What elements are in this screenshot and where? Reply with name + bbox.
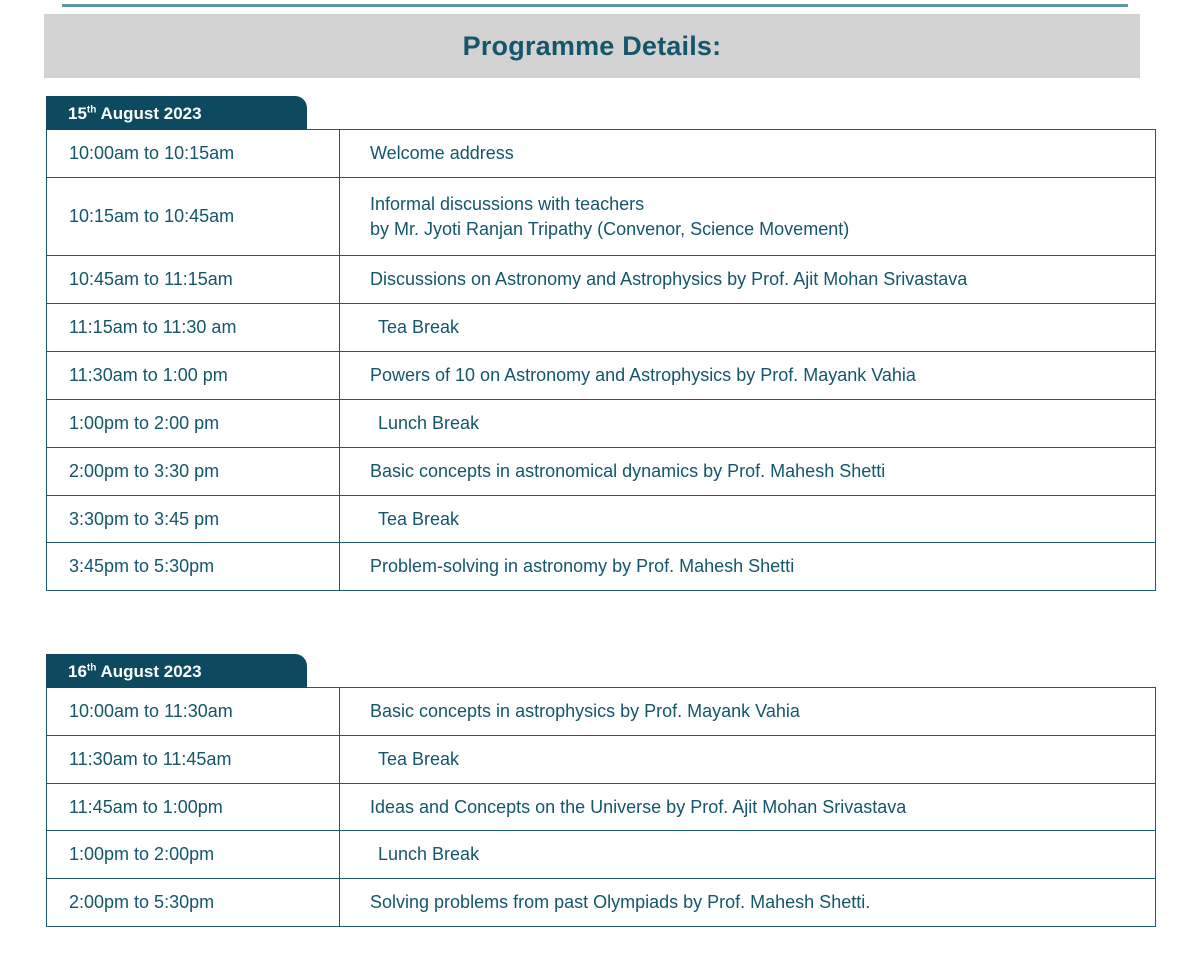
page-title: Programme Details: — [463, 31, 722, 62]
schedule-body-day-1: 10:00am to 10:15amWelcome address10:15am… — [47, 130, 1156, 591]
table-row: 1:00pm to 2:00 pmLunch Break — [47, 399, 1156, 447]
top-divider-rule — [62, 4, 1128, 7]
session-description-line: Problem-solving in astronomy by Prof. Ma… — [370, 554, 1143, 579]
session-description-line: Lunch Break — [378, 411, 1143, 436]
session-time-cell: 10:15am to 10:45am — [47, 177, 340, 256]
table-row: 10:00am to 10:15amWelcome address — [47, 130, 1156, 178]
session-description-cell: Powers of 10 on Astronomy and Astrophysi… — [340, 352, 1156, 400]
session-description-cell: Basic concepts in astronomical dynamics … — [340, 447, 1156, 495]
table-row: 3:45pm to 5:30pmProblem-solving in astro… — [47, 543, 1156, 591]
date-ordinal-suffix: th — [87, 662, 96, 673]
schedule-body-day-2: 10:00am to 11:30amBasic concepts in astr… — [47, 688, 1156, 927]
session-description-line: Informal discussions with teachers — [370, 192, 1143, 217]
session-description-line: Ideas and Concepts on the Universe by Pr… — [370, 795, 1143, 820]
session-description-cell: Tea Break — [340, 304, 1156, 352]
session-description-line: Tea Break — [378, 507, 1143, 532]
session-description-cell: Welcome address — [340, 130, 1156, 178]
session-description-line: Discussions on Astronomy and Astrophysic… — [370, 267, 1143, 292]
table-row: 10:00am to 11:30amBasic concepts in astr… — [47, 688, 1156, 736]
session-time-cell: 10:00am to 10:15am — [47, 130, 340, 178]
session-time-cell: 2:00pm to 5:30pm — [47, 879, 340, 927]
session-time-cell: 3:30pm to 3:45 pm — [47, 495, 340, 543]
session-time-cell: 11:30am to 1:00 pm — [47, 352, 340, 400]
date-tab-label-day-2: 16th August 2023 — [68, 663, 202, 680]
table-row: 11:30am to 11:45amTea Break — [47, 735, 1156, 783]
session-time-cell: 11:30am to 11:45am — [47, 735, 340, 783]
schedule-table-day-2: 10:00am to 11:30amBasic concepts in astr… — [46, 687, 1156, 927]
session-description-line: Basic concepts in astrophysics by Prof. … — [370, 699, 1143, 724]
session-description-line: Powers of 10 on Astronomy and Astrophysi… — [370, 363, 1143, 388]
date-tab-day-1: 15th August 2023 — [46, 96, 307, 130]
session-time-cell: 10:45am to 11:15am — [47, 256, 340, 304]
session-description-line: Welcome address — [370, 141, 1143, 166]
session-description-line: Basic concepts in astronomical dynamics … — [370, 459, 1143, 484]
session-time-cell: 10:00am to 11:30am — [47, 688, 340, 736]
session-description-cell: Ideas and Concepts on the Universe by Pr… — [340, 783, 1156, 831]
session-description-cell: Solving problems from past Olympiads by … — [340, 879, 1156, 927]
table-row: 3:30pm to 3:45 pmTea Break — [47, 495, 1156, 543]
session-description-cell: Tea Break — [340, 735, 1156, 783]
table-row: 10:45am to 11:15amDiscussions on Astrono… — [47, 256, 1156, 304]
table-row: 10:15am to 10:45amInformal discussions w… — [47, 177, 1156, 256]
session-time-cell: 1:00pm to 2:00pm — [47, 831, 340, 879]
schedule-block-day-1: 15th August 2023 10:00am to 10:15amWelco… — [46, 96, 1156, 591]
session-time-cell: 3:45pm to 5:30pm — [47, 543, 340, 591]
session-time-cell: 11:15am to 11:30 am — [47, 304, 340, 352]
schedule-table-day-1: 10:00am to 10:15amWelcome address10:15am… — [46, 129, 1156, 591]
session-description-line: Solving problems from past Olympiads by … — [370, 890, 1143, 915]
table-row: 2:00pm to 5:30pmSolving problems from pa… — [47, 879, 1156, 927]
session-description-line: Lunch Break — [378, 842, 1143, 867]
session-time-cell: 1:00pm to 2:00 pm — [47, 399, 340, 447]
table-row: 11:30am to 1:00 pmPowers of 10 on Astron… — [47, 352, 1156, 400]
session-description-cell: Informal discussions with teachersby Mr.… — [340, 177, 1156, 256]
session-description-cell: Tea Break — [340, 495, 1156, 543]
date-tab-label-day-1: 15th August 2023 — [68, 105, 202, 122]
table-row: 11:45am to 1:00pmIdeas and Concepts on t… — [47, 783, 1156, 831]
programme-title-banner: Programme Details: — [44, 14, 1140, 78]
session-time-cell: 2:00pm to 3:30 pm — [47, 447, 340, 495]
programme-details-page: Programme Details: 15th August 2023 10:0… — [0, 0, 1180, 955]
table-row: 11:15am to 11:30 amTea Break — [47, 304, 1156, 352]
table-row: 1:00pm to 2:00pmLunch Break — [47, 831, 1156, 879]
table-row: 2:00pm to 3:30 pmBasic concepts in astro… — [47, 447, 1156, 495]
session-description-line: by Mr. Jyoti Ranjan Tripathy (Convenor, … — [370, 217, 1143, 242]
date-tab-day-2: 16th August 2023 — [46, 654, 307, 688]
session-description-cell: Problem-solving in astronomy by Prof. Ma… — [340, 543, 1156, 591]
session-description-line: Tea Break — [378, 315, 1143, 340]
session-description-cell: Lunch Break — [340, 399, 1156, 447]
session-description-cell: Lunch Break — [340, 831, 1156, 879]
schedule-block-day-2: 16th August 2023 10:00am to 11:30amBasic… — [46, 654, 1156, 927]
session-description-cell: Basic concepts in astrophysics by Prof. … — [340, 688, 1156, 736]
session-description-cell: Discussions on Astronomy and Astrophysic… — [340, 256, 1156, 304]
date-ordinal-suffix: th — [87, 104, 96, 115]
session-description-line: Tea Break — [378, 747, 1143, 772]
session-time-cell: 11:45am to 1:00pm — [47, 783, 340, 831]
